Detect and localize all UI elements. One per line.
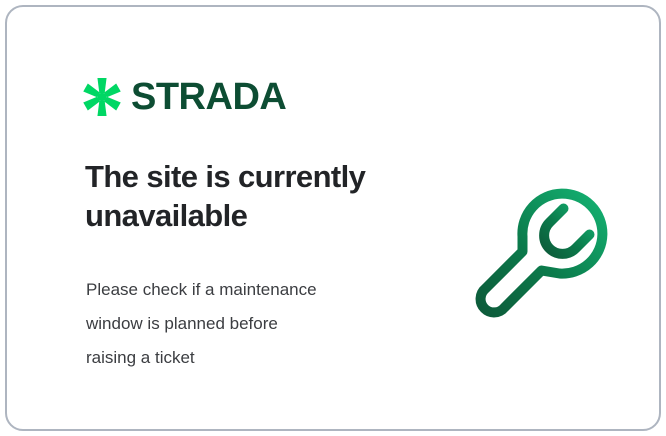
- brand-logo: STRADA: [83, 75, 286, 119]
- message-card: STRADA The site is currently unavailable…: [5, 5, 661, 431]
- page-title: The site is currently unavailable: [85, 157, 415, 235]
- error-page: STRADA The site is currently unavailable…: [0, 0, 666, 436]
- description-line: raising a ticket: [86, 341, 406, 375]
- description-line: Please check if a maintenance: [86, 273, 406, 307]
- wrench-icon: [459, 155, 627, 325]
- page-description: Please check if a maintenance window is …: [86, 273, 406, 375]
- description-line: window is planned before: [86, 307, 406, 341]
- asterisk-star-icon: [83, 78, 121, 116]
- brand-wordmark: STRADA: [131, 78, 286, 116]
